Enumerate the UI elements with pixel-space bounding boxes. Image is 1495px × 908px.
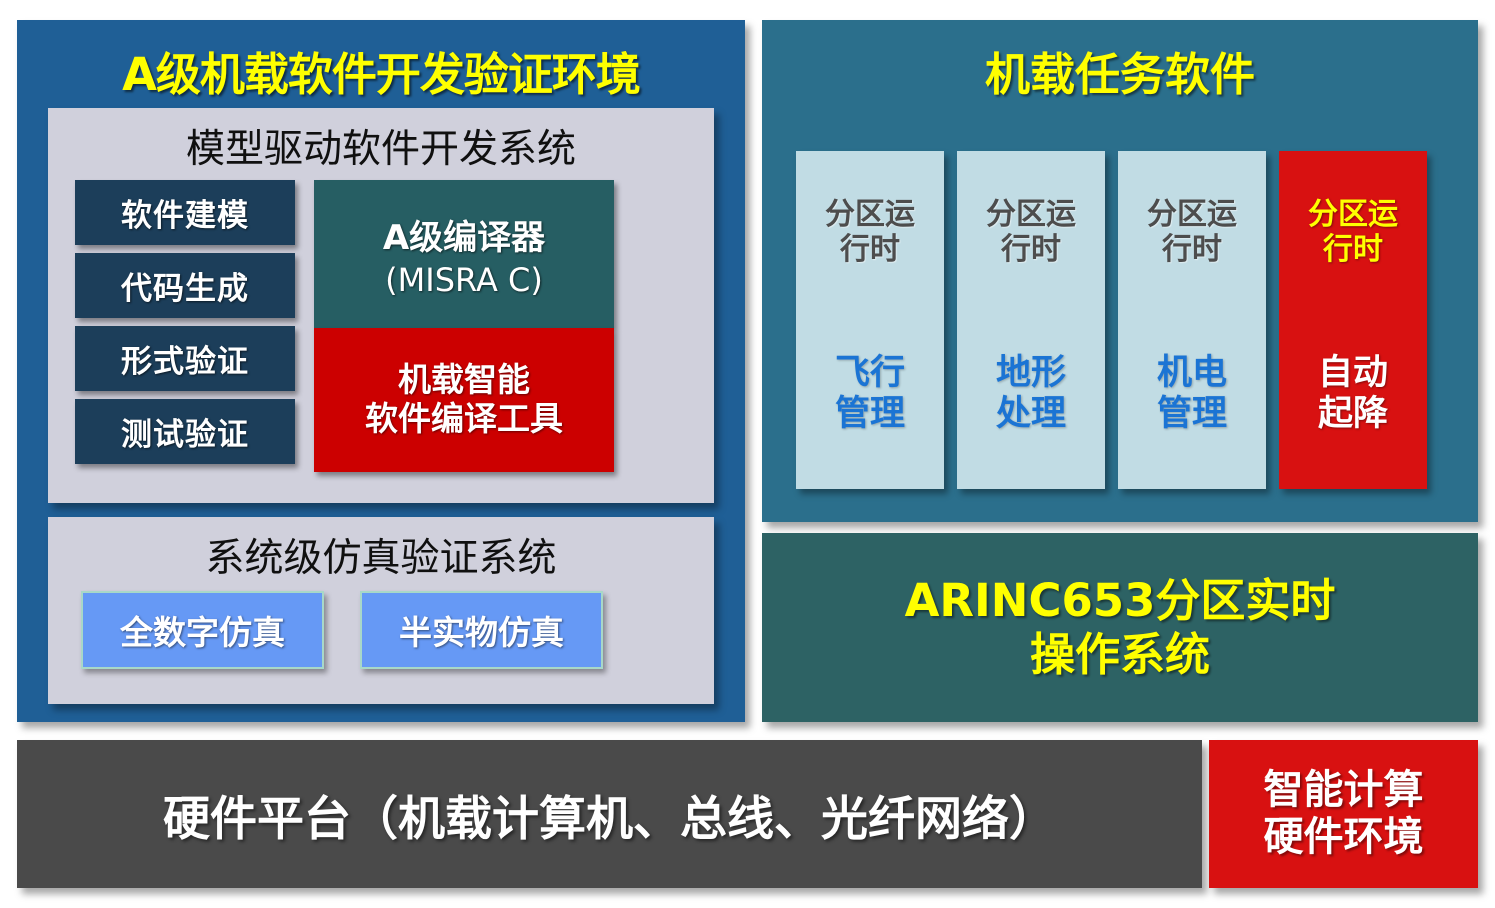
- tool-box-test-verification[interactable]: 测试验证: [75, 399, 295, 464]
- tool-box-software-modeling[interactable]: 软件建模: [75, 180, 295, 245]
- app-line1: 自动: [1279, 353, 1427, 394]
- app-line1: 机电: [1118, 353, 1266, 394]
- dev-verification-environment-panel: A级机载软件开发验证环境 模型驱动软件开发系统 软件建模 代码生成 形式验证 测…: [17, 20, 745, 722]
- hardware-platform-bar: 硬件平台（机载计算机、总线、光纤网络）: [17, 740, 1202, 888]
- partition-list: 分区运 行时 飞行 管理 分区运 行时 地形 处理 分区运 行时: [796, 151, 1446, 489]
- hardware-platform-label: 硬件平台（机载计算机、总线、光纤网络）: [163, 780, 1056, 849]
- tool-label: 形式验证: [121, 336, 249, 381]
- runtime-line1: 分区运: [796, 197, 944, 232]
- smart-hw-label-line2: 硬件环境: [1264, 814, 1424, 861]
- simulation-label: 半实物仿真: [399, 606, 564, 654]
- right-panel-title: 机载任务软件: [762, 38, 1478, 103]
- mdd-tool-stack: 软件建模 代码生成 形式验证 测试验证: [75, 180, 295, 472]
- partition-app-label: 机电 管理: [1118, 353, 1266, 435]
- simulation-box-hardware-in-loop[interactable]: 半实物仿真: [360, 591, 603, 669]
- partition-app-label: 地形 处理: [957, 353, 1105, 435]
- a-level-compiler-box[interactable]: A级编译器 (MISRA C): [314, 180, 614, 328]
- runtime-line1: 分区运: [957, 197, 1105, 232]
- partition-terrain-processing[interactable]: 分区运 行时 地形 处理: [957, 151, 1105, 489]
- app-line2: 管理: [1118, 394, 1266, 435]
- tool-label: 测试验证: [121, 409, 249, 454]
- partition-flight-management[interactable]: 分区运 行时 飞行 管理: [796, 151, 944, 489]
- runtime-line2: 行时: [957, 232, 1105, 267]
- tool-label: 软件建模: [121, 190, 249, 235]
- mdd-card-title: 模型驱动软件开发系统: [48, 118, 714, 174]
- partition-app-label: 飞行 管理: [796, 353, 944, 435]
- runtime-line2: 行时: [796, 232, 944, 267]
- app-line1: 地形: [957, 353, 1105, 394]
- partition-runtime-label: 分区运 行时: [796, 197, 944, 267]
- model-driven-development-card: 模型驱动软件开发系统 软件建模 代码生成 形式验证 测试验证 A级编译器 (MI…: [48, 108, 714, 503]
- runtime-line1: 分区运: [1118, 197, 1266, 232]
- left-panel-title: A级机载软件开发验证环境: [17, 38, 745, 103]
- compiler-label-line1: A级编译器: [383, 210, 545, 259]
- simulation-box-full-digital[interactable]: 全数字仿真: [81, 591, 324, 669]
- tool-box-code-generation[interactable]: 代码生成: [75, 253, 295, 318]
- tool-label: 代码生成: [121, 263, 249, 308]
- smart-computing-hardware-box: 智能计算 硬件环境: [1209, 740, 1478, 888]
- partition-auto-takeoff-landing[interactable]: 分区运 行时 自动 起降: [1279, 151, 1427, 489]
- app-line2: 管理: [796, 394, 944, 435]
- runtime-line2: 行时: [1118, 232, 1266, 267]
- compiler-label-line2: (MISRA C): [385, 261, 543, 299]
- os-label-line2: 操作系统: [1030, 628, 1210, 682]
- smart-hw-label-line1: 智能计算: [1264, 767, 1424, 814]
- system-simulation-card: 系统级仿真验证系统 全数字仿真 半实物仿真: [48, 517, 714, 704]
- app-line2: 处理: [957, 394, 1105, 435]
- app-line2: 起降: [1279, 394, 1427, 435]
- app-line1: 飞行: [796, 353, 944, 394]
- os-label-line1: ARINC653分区实时: [905, 574, 1336, 628]
- runtime-line2: 行时: [1279, 232, 1427, 267]
- simulation-card-title: 系统级仿真验证系统: [48, 527, 714, 583]
- simulation-label: 全数字仿真: [120, 606, 285, 654]
- partition-runtime-label: 分区运 行时: [957, 197, 1105, 267]
- partition-runtime-label: 分区运 行时: [1279, 197, 1427, 267]
- runtime-line1: 分区运: [1279, 197, 1427, 232]
- ai-compiler-label-line2: 软件编译工具: [365, 400, 563, 439]
- airborne-mission-software-panel: 机载任务软件 分区运 行时 飞行 管理 分区运 行时 地形 处理 分: [762, 20, 1478, 522]
- tool-box-formal-verification[interactable]: 形式验证: [75, 326, 295, 391]
- ai-compiler-label-line1: 机载智能: [398, 361, 530, 400]
- airborne-ai-compiler-box[interactable]: 机载智能 软件编译工具: [314, 328, 614, 472]
- partition-electromechanical-management[interactable]: 分区运 行时 机电 管理: [1118, 151, 1266, 489]
- partition-runtime-label: 分区运 行时: [1118, 197, 1266, 267]
- partition-app-label: 自动 起降: [1279, 353, 1427, 435]
- arinc653-rtos-panel: ARINC653分区实时 操作系统: [762, 533, 1478, 722]
